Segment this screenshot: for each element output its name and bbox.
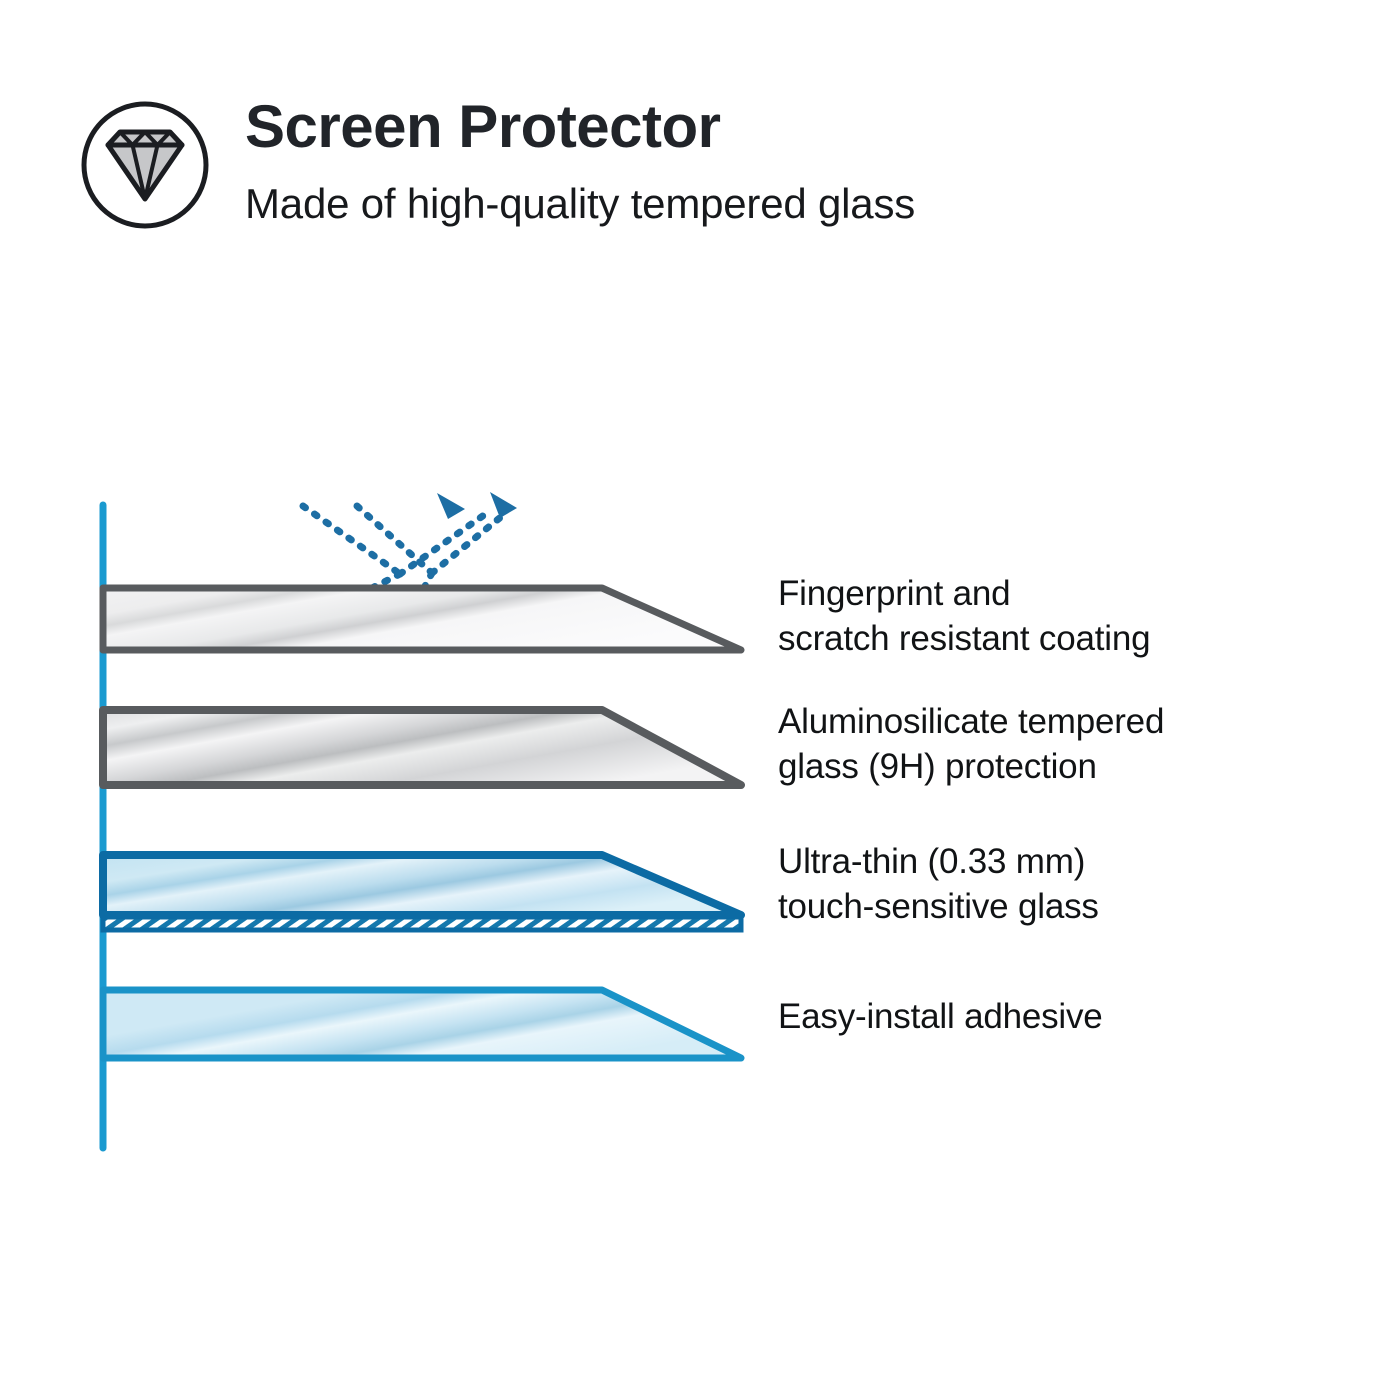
layer-tempered-glass bbox=[103, 710, 741, 785]
layer-label-touch-glass: Ultra-thin (0.33 mm) touch-sensitive gla… bbox=[778, 840, 1099, 930]
layer-coating bbox=[103, 588, 741, 650]
arrowhead-right bbox=[490, 492, 517, 518]
arrowhead-left bbox=[437, 493, 465, 519]
layer-label-coating: Fingerprint and scratch resistant coatin… bbox=[778, 572, 1150, 662]
layer-label-adhesive: Easy-install adhesive bbox=[778, 995, 1103, 1040]
screen-protector-diagram: Fingerprint and scratch resistant coatin… bbox=[0, 0, 1400, 1400]
reflection-arrows bbox=[303, 506, 507, 588]
layer-touch-glass bbox=[103, 855, 741, 930]
layer-adhesive bbox=[103, 990, 741, 1058]
adhesive-hatch-strip bbox=[103, 917, 741, 930]
layer-stack-svg bbox=[0, 0, 1400, 1400]
layer-label-tempered-glass: Aluminosilicate tempered glass (9H) prot… bbox=[778, 700, 1164, 790]
